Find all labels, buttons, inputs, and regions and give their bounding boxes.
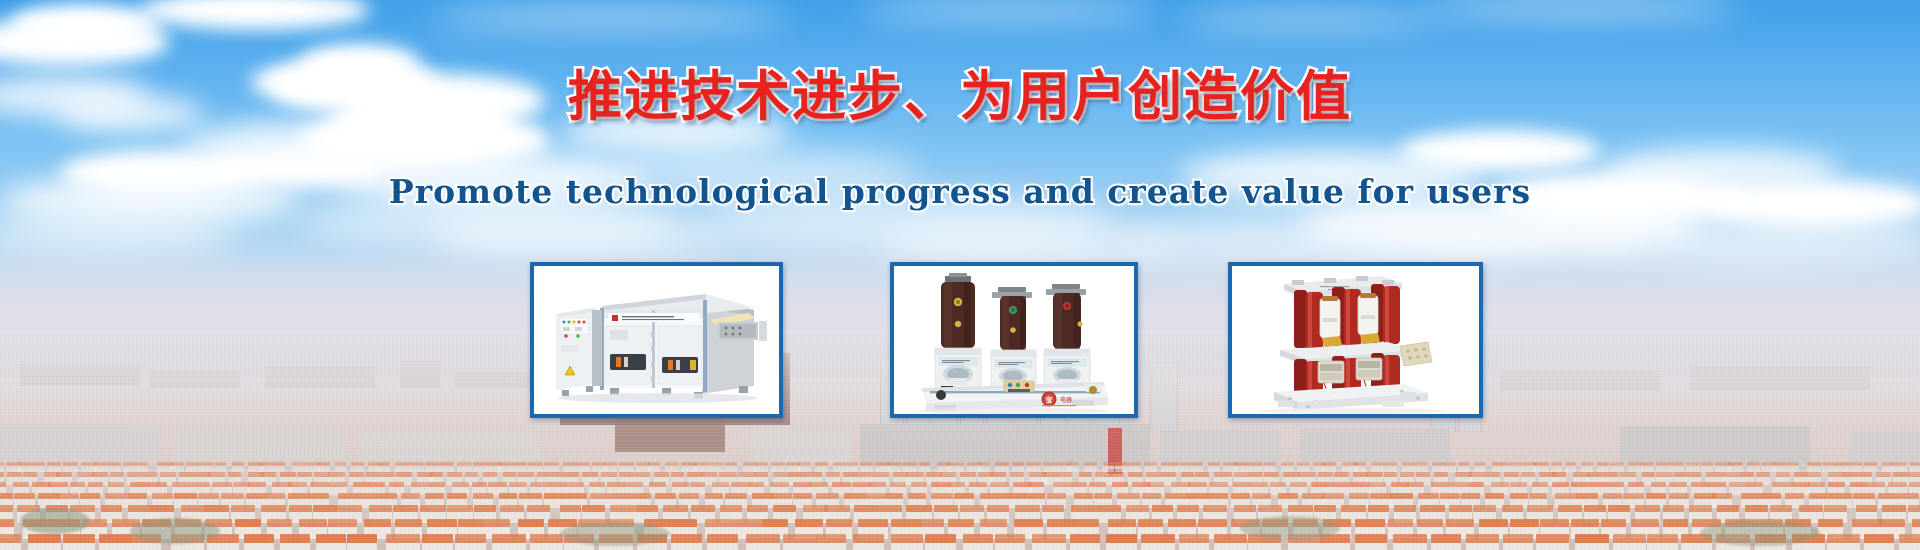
cloud-shape <box>1180 10 1440 28</box>
cloud-shape <box>430 6 790 28</box>
cloud-shape <box>1420 0 1740 18</box>
high-voltage-vacuum-contactor-image <box>1232 266 1479 414</box>
cloud-shape <box>140 0 370 30</box>
promotional-banner: 推进技术进步、为用户创造价值 Promote technological pro… <box>0 0 1920 550</box>
svg-text:宝: 宝 <box>1046 395 1053 404</box>
three-pole-vacuum-contactor-assembly-image: 宝 电器 <box>894 266 1134 414</box>
page-title: 推进技术进步、为用户创造价值 <box>0 52 1920 131</box>
cloud-shape <box>860 0 1160 20</box>
svg-text:电器: 电器 <box>1060 396 1072 404</box>
product-panel-hv-vacuum-contactor[interactable] <box>1228 262 1483 418</box>
cloud-shape <box>1400 130 1600 172</box>
page-subtitle: Promote technological progress and creat… <box>0 172 1920 211</box>
product-panel-vacuum-contactor-assembly[interactable]: 宝 电器 <box>890 262 1138 418</box>
medium-voltage-switchgear-cabinet-image <box>534 266 779 414</box>
product-panel-switchgear[interactable] <box>530 262 783 418</box>
cloud-shape <box>10 4 160 44</box>
